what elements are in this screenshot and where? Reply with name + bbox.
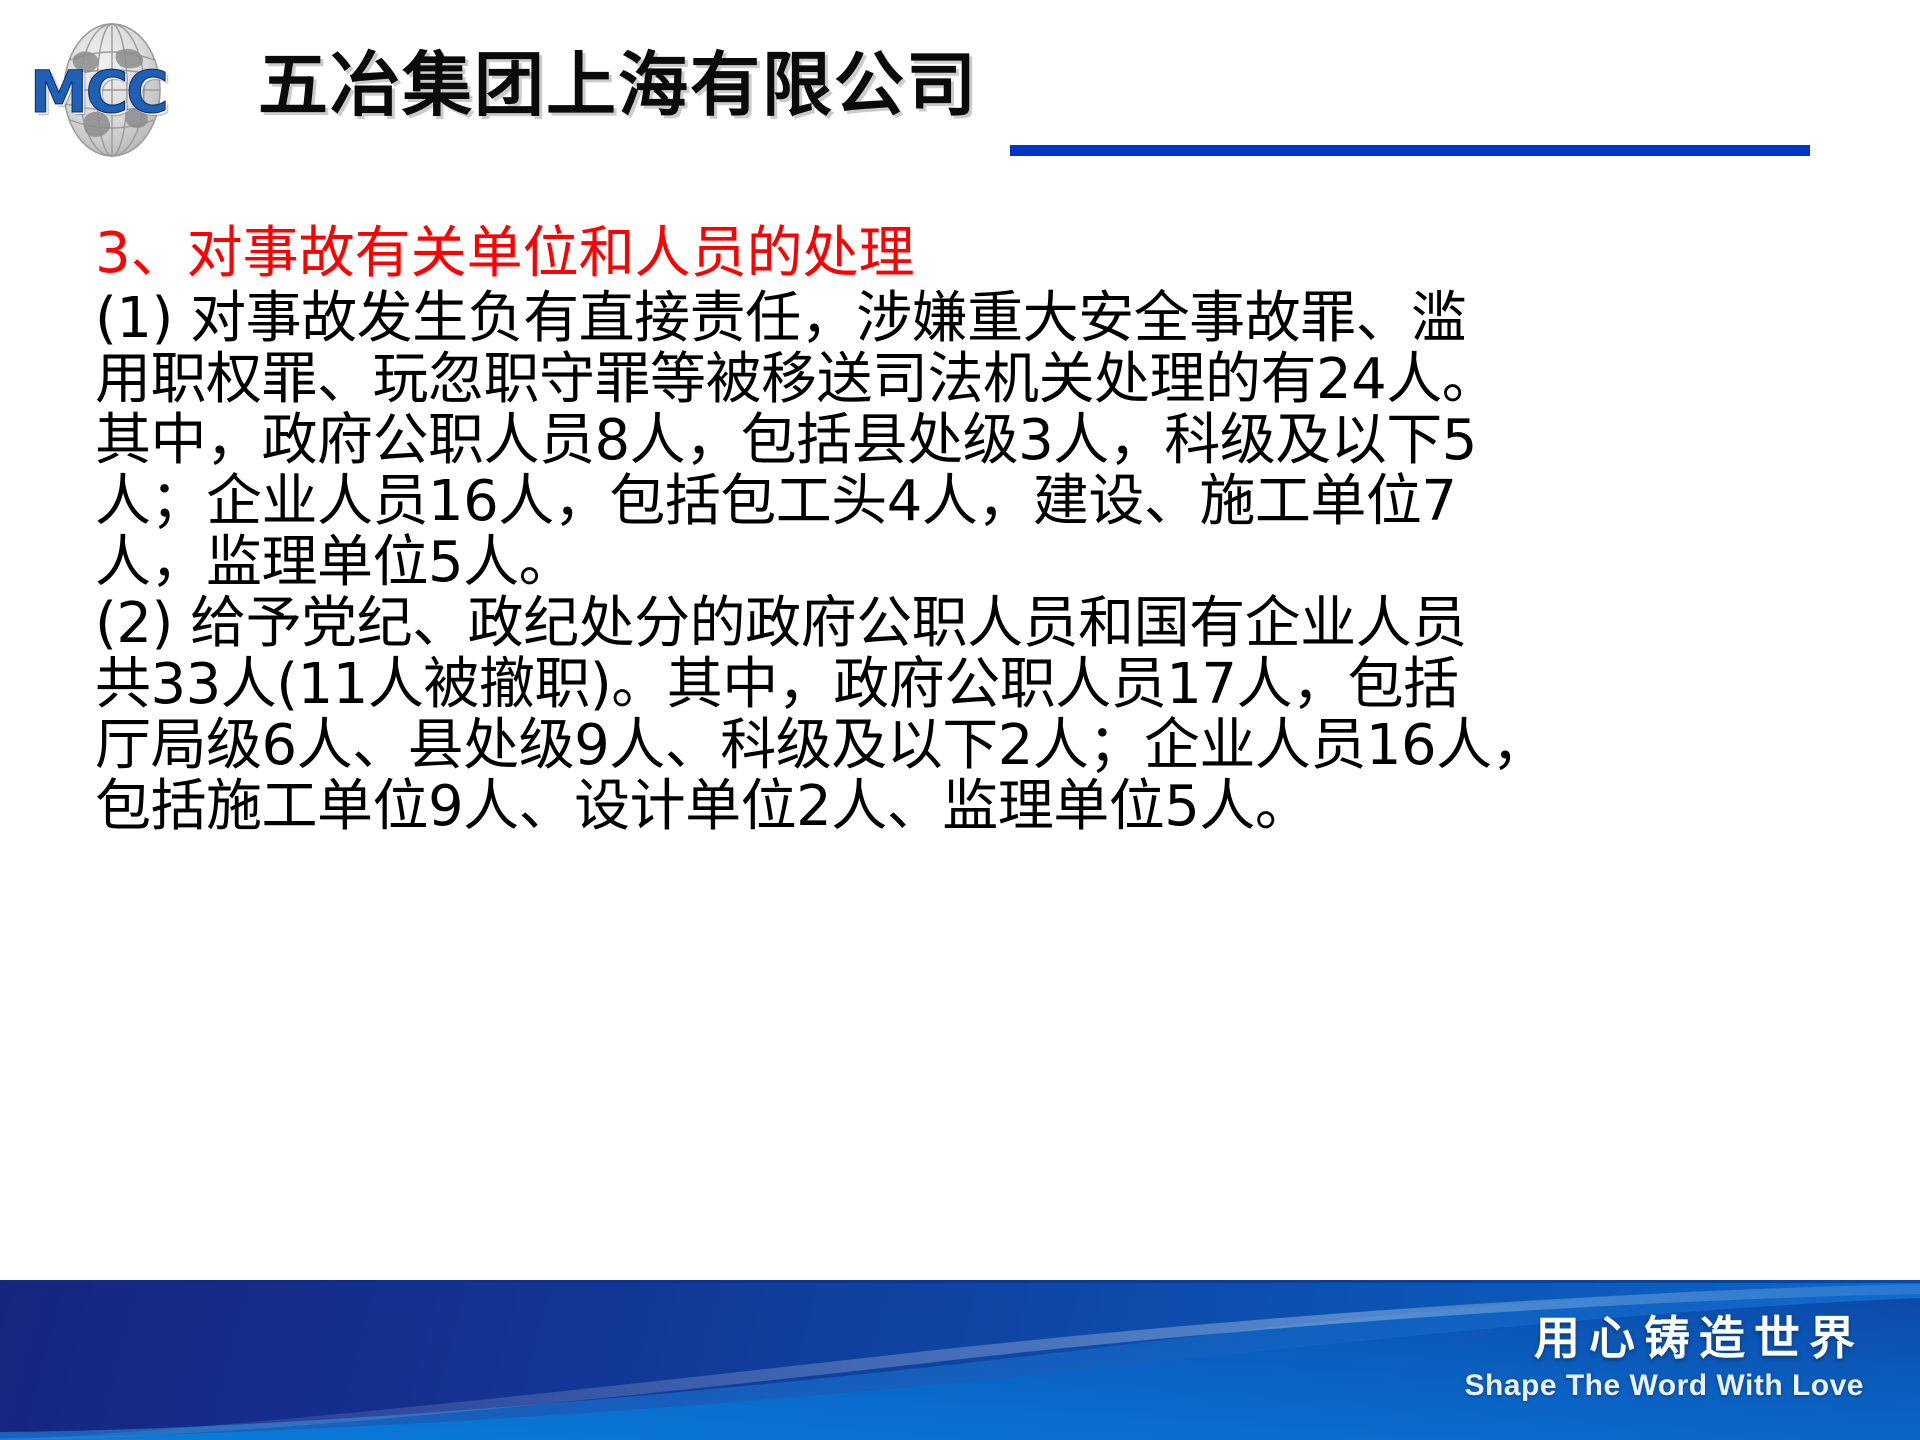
tagline-chinese: 用心铸造世界 [1464,1312,1864,1364]
body-line: 人；企业人员16人，包括包工头4人，建设、施工单位7 [95,471,1855,532]
company-logo: MCC [22,20,262,160]
header-divider-rule [1010,145,1810,156]
body-line: (2) 给予党纪、政纪处分的政府公职人员和国有企业人员 [95,593,1855,654]
company-name: 五冶集团上海有限公司 [258,46,978,124]
body-line: 人，监理单位5人。 [95,532,1855,593]
body-line: 其中，政府公职人员8人，包括县处级3人，科级及以下5 [95,410,1855,471]
section-heading: 3、对事故有关单位和人员的处理 [95,222,1855,286]
slide-footer: 用心铸造世界 Shape The Word With Love [0,1280,1920,1440]
body-line: 共33人(11人被撤职)。其中，政府公职人员17人，包括 [95,654,1855,715]
body-line: 用职权罪、玩忽职守罪等被移送司法机关处理的有24人。 [95,349,1855,410]
slide-content: 3、对事故有关单位和人员的处理 (1) 对事故发生负有直接责任，涉嫌重大安全事故… [95,222,1855,837]
body-line: 厅局级6人、县处级9人、科级及以下2人；企业人员16人， [95,715,1855,776]
body-line: (1) 对事故发生负有直接责任，涉嫌重大安全事故罪、滥 [95,288,1855,349]
tagline-english: Shape The Word With Love [1464,1368,1864,1404]
footer-tagline: 用心铸造世界 Shape The Word With Love [1464,1312,1864,1404]
body-line: 包括施工单位9人、设计单位2人、监理单位5人。 [95,776,1855,837]
slide-header: MCC 五冶集团上海有限公司 [0,0,1920,180]
logo-wordmark: MCC [30,64,202,120]
